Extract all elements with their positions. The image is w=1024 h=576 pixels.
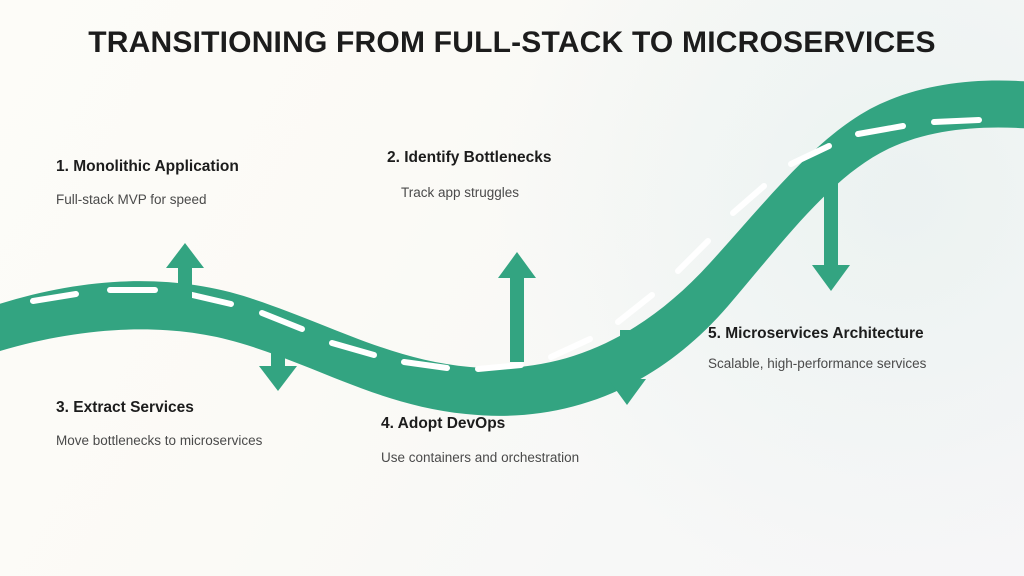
infographic-canvas: TRANSITIONING FROM FULL-STACK TO MICROSE… [0, 0, 1024, 576]
step-2-description: Track app struggles [401, 184, 552, 202]
road-illustration [0, 0, 1024, 576]
step-5: 5. Microservices Architecture Scalable, … [708, 324, 926, 373]
step-3-description: Move bottlenecks to microservices [56, 432, 262, 450]
step-1-description: Full-stack MVP for speed [56, 191, 239, 209]
step-2-title: 2. Identify Bottlenecks [387, 148, 552, 167]
page-title: TRANSITIONING FROM FULL-STACK TO MICROSE… [0, 24, 1024, 62]
step-1-title: 1. Monolithic Application [56, 157, 239, 176]
arrow-step-2-up [498, 252, 536, 362]
step-1: 1. Monolithic Application Full-stack MVP… [56, 157, 239, 209]
step-5-description: Scalable, high-performance services [708, 355, 926, 373]
step-2: 2. Identify Bottlenecks Track app strugg… [387, 148, 552, 202]
step-3-title: 3. Extract Services [56, 398, 262, 417]
step-4-title: 4. Adopt DevOps [381, 414, 579, 433]
step-4: 4. Adopt DevOps Use containers and orche… [381, 414, 579, 467]
step-5-title: 5. Microservices Architecture [708, 324, 926, 343]
step-3: 3. Extract Services Move bottlenecks to … [56, 398, 262, 450]
step-4-description: Use containers and orchestration [381, 449, 579, 467]
